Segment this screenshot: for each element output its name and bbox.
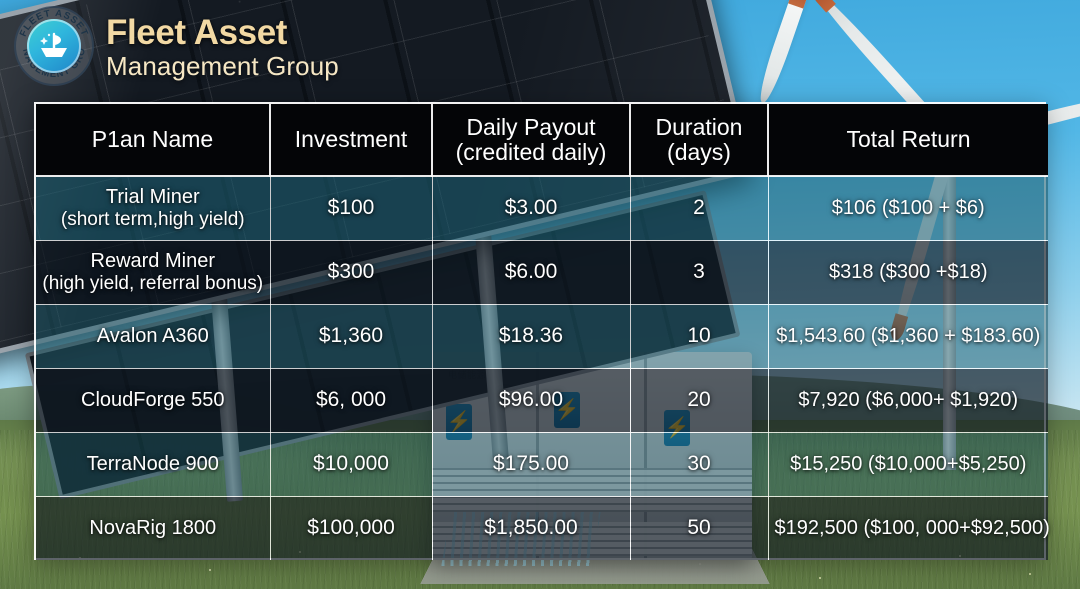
column-header-daily-payout-sublabel: (credited daily) xyxy=(439,140,623,165)
cell-plan-name: CloudForge 550 xyxy=(36,368,270,432)
plan-name: Avalon A360 xyxy=(97,325,209,347)
plan-name: Trial Miner xyxy=(106,186,200,208)
column-header-total-return-label: Total Return xyxy=(846,126,970,152)
plan-name-note: (short term,high yield) xyxy=(42,209,264,230)
cell-duration: 50 xyxy=(630,496,768,560)
column-header-daily-payout: Daily Payout (credited daily) xyxy=(432,104,630,176)
brand-text: Fleet Asset Management Group xyxy=(106,13,339,79)
cell-duration: 2 xyxy=(630,176,768,240)
cell-daily-payout: $3.00 xyxy=(432,176,630,240)
column-header-duration-sublabel: (days) xyxy=(637,140,761,165)
cell-daily-payout: $96.00 xyxy=(432,368,630,432)
brand-subtitle: Management Group xyxy=(106,53,339,79)
company-logo: FLEET ASSET MANAGEMENT GROUP xyxy=(14,6,94,86)
plan-name: Reward Miner xyxy=(91,250,215,272)
cell-plan-name: NovaRig 1800 xyxy=(36,496,270,560)
cell-duration: 20 xyxy=(630,368,768,432)
cell-investment: $6, 000 xyxy=(270,368,432,432)
plan-name: NovaRig 1800 xyxy=(89,517,216,539)
column-header-investment: Investment xyxy=(270,104,432,176)
table-header: P1an Name Investment Daily Payout (credi… xyxy=(36,104,1048,176)
column-header-daily-payout-label: Daily Payout xyxy=(466,114,595,140)
cell-plan-name: Avalon A360 xyxy=(36,304,270,368)
table-row[interactable]: Avalon A360 $1,360 $18.36 10 $1,543.60 (… xyxy=(36,304,1048,368)
table-row[interactable]: NovaRig 1800 $100,000 $1,850.00 50 $192,… xyxy=(36,496,1048,560)
cell-total-return: $106 ($100 + $6) xyxy=(768,176,1048,240)
brand-title: Fleet Asset xyxy=(106,15,339,50)
investment-plans-table: P1an Name Investment Daily Payout (credi… xyxy=(34,102,1046,560)
cell-total-return: $15,250 ($10,000+$5,250) xyxy=(768,432,1048,496)
plans-table: P1an Name Investment Daily Payout (credi… xyxy=(36,104,1048,560)
column-header-plan-name-label: P1an Name xyxy=(92,126,213,152)
plan-name: CloudForge 550 xyxy=(81,389,224,411)
cell-plan-name: Reward Miner (high yield, referral bonus… xyxy=(36,240,270,304)
cell-investment: $10,000 xyxy=(270,432,432,496)
cell-investment: $100,000 xyxy=(270,496,432,560)
cell-total-return: $1,543.60 ($1,360 + $183.60) xyxy=(768,304,1048,368)
ship-boat-icon xyxy=(37,31,71,61)
cell-daily-payout: $6.00 xyxy=(432,240,630,304)
cell-total-return: $7,920 ($6,000+ $1,920) xyxy=(768,368,1048,432)
table-row[interactable]: Reward Miner (high yield, referral bonus… xyxy=(36,240,1048,304)
column-header-total-return: Total Return xyxy=(768,104,1048,176)
cell-investment: $1,360 xyxy=(270,304,432,368)
cell-plan-name: Trial Miner (short term,high yield) xyxy=(36,176,270,240)
table-row[interactable]: TerraNode 900 $10,000 $175.00 30 $15,250… xyxy=(36,432,1048,496)
table-header-row: P1an Name Investment Daily Payout (credi… xyxy=(36,104,1048,176)
column-header-duration-label: Duration xyxy=(656,114,743,140)
table-row[interactable]: Trial Miner (short term,high yield) $100… xyxy=(36,176,1048,240)
logo-inner-disc xyxy=(27,19,81,73)
cell-duration: 10 xyxy=(630,304,768,368)
column-header-plan-name: P1an Name xyxy=(36,104,270,176)
cell-daily-payout: $18.36 xyxy=(432,304,630,368)
cell-total-return: $318 ($300 +$18) xyxy=(768,240,1048,304)
cell-investment: $100 xyxy=(270,176,432,240)
cell-duration: 3 xyxy=(630,240,768,304)
cell-investment: $300 xyxy=(270,240,432,304)
column-header-investment-label: Investment xyxy=(295,126,408,152)
cell-plan-name: TerraNode 900 xyxy=(36,432,270,496)
cell-total-return: $192,500 ($100, 000+$92,500) xyxy=(768,496,1048,560)
cell-daily-payout: $1,850.00 xyxy=(432,496,630,560)
table-row[interactable]: CloudForge 550 $6, 000 $96.00 20 $7,920 … xyxy=(36,368,1048,432)
column-header-duration: Duration (days) xyxy=(630,104,768,176)
cell-daily-payout: $175.00 xyxy=(432,432,630,496)
table-body: Trial Miner (short term,high yield) $100… xyxy=(36,176,1048,560)
cell-duration: 30 xyxy=(630,432,768,496)
plan-name-note: (high yield, referral bonus) xyxy=(42,273,264,294)
plan-name: TerraNode 900 xyxy=(87,453,219,475)
promo-graphic-canvas: 电储能源 ⚡ ⚡ ⚡ xyxy=(0,0,1080,589)
brand-header: FLEET ASSET MANAGEMENT GROUP Fleet Asset… xyxy=(14,6,339,86)
